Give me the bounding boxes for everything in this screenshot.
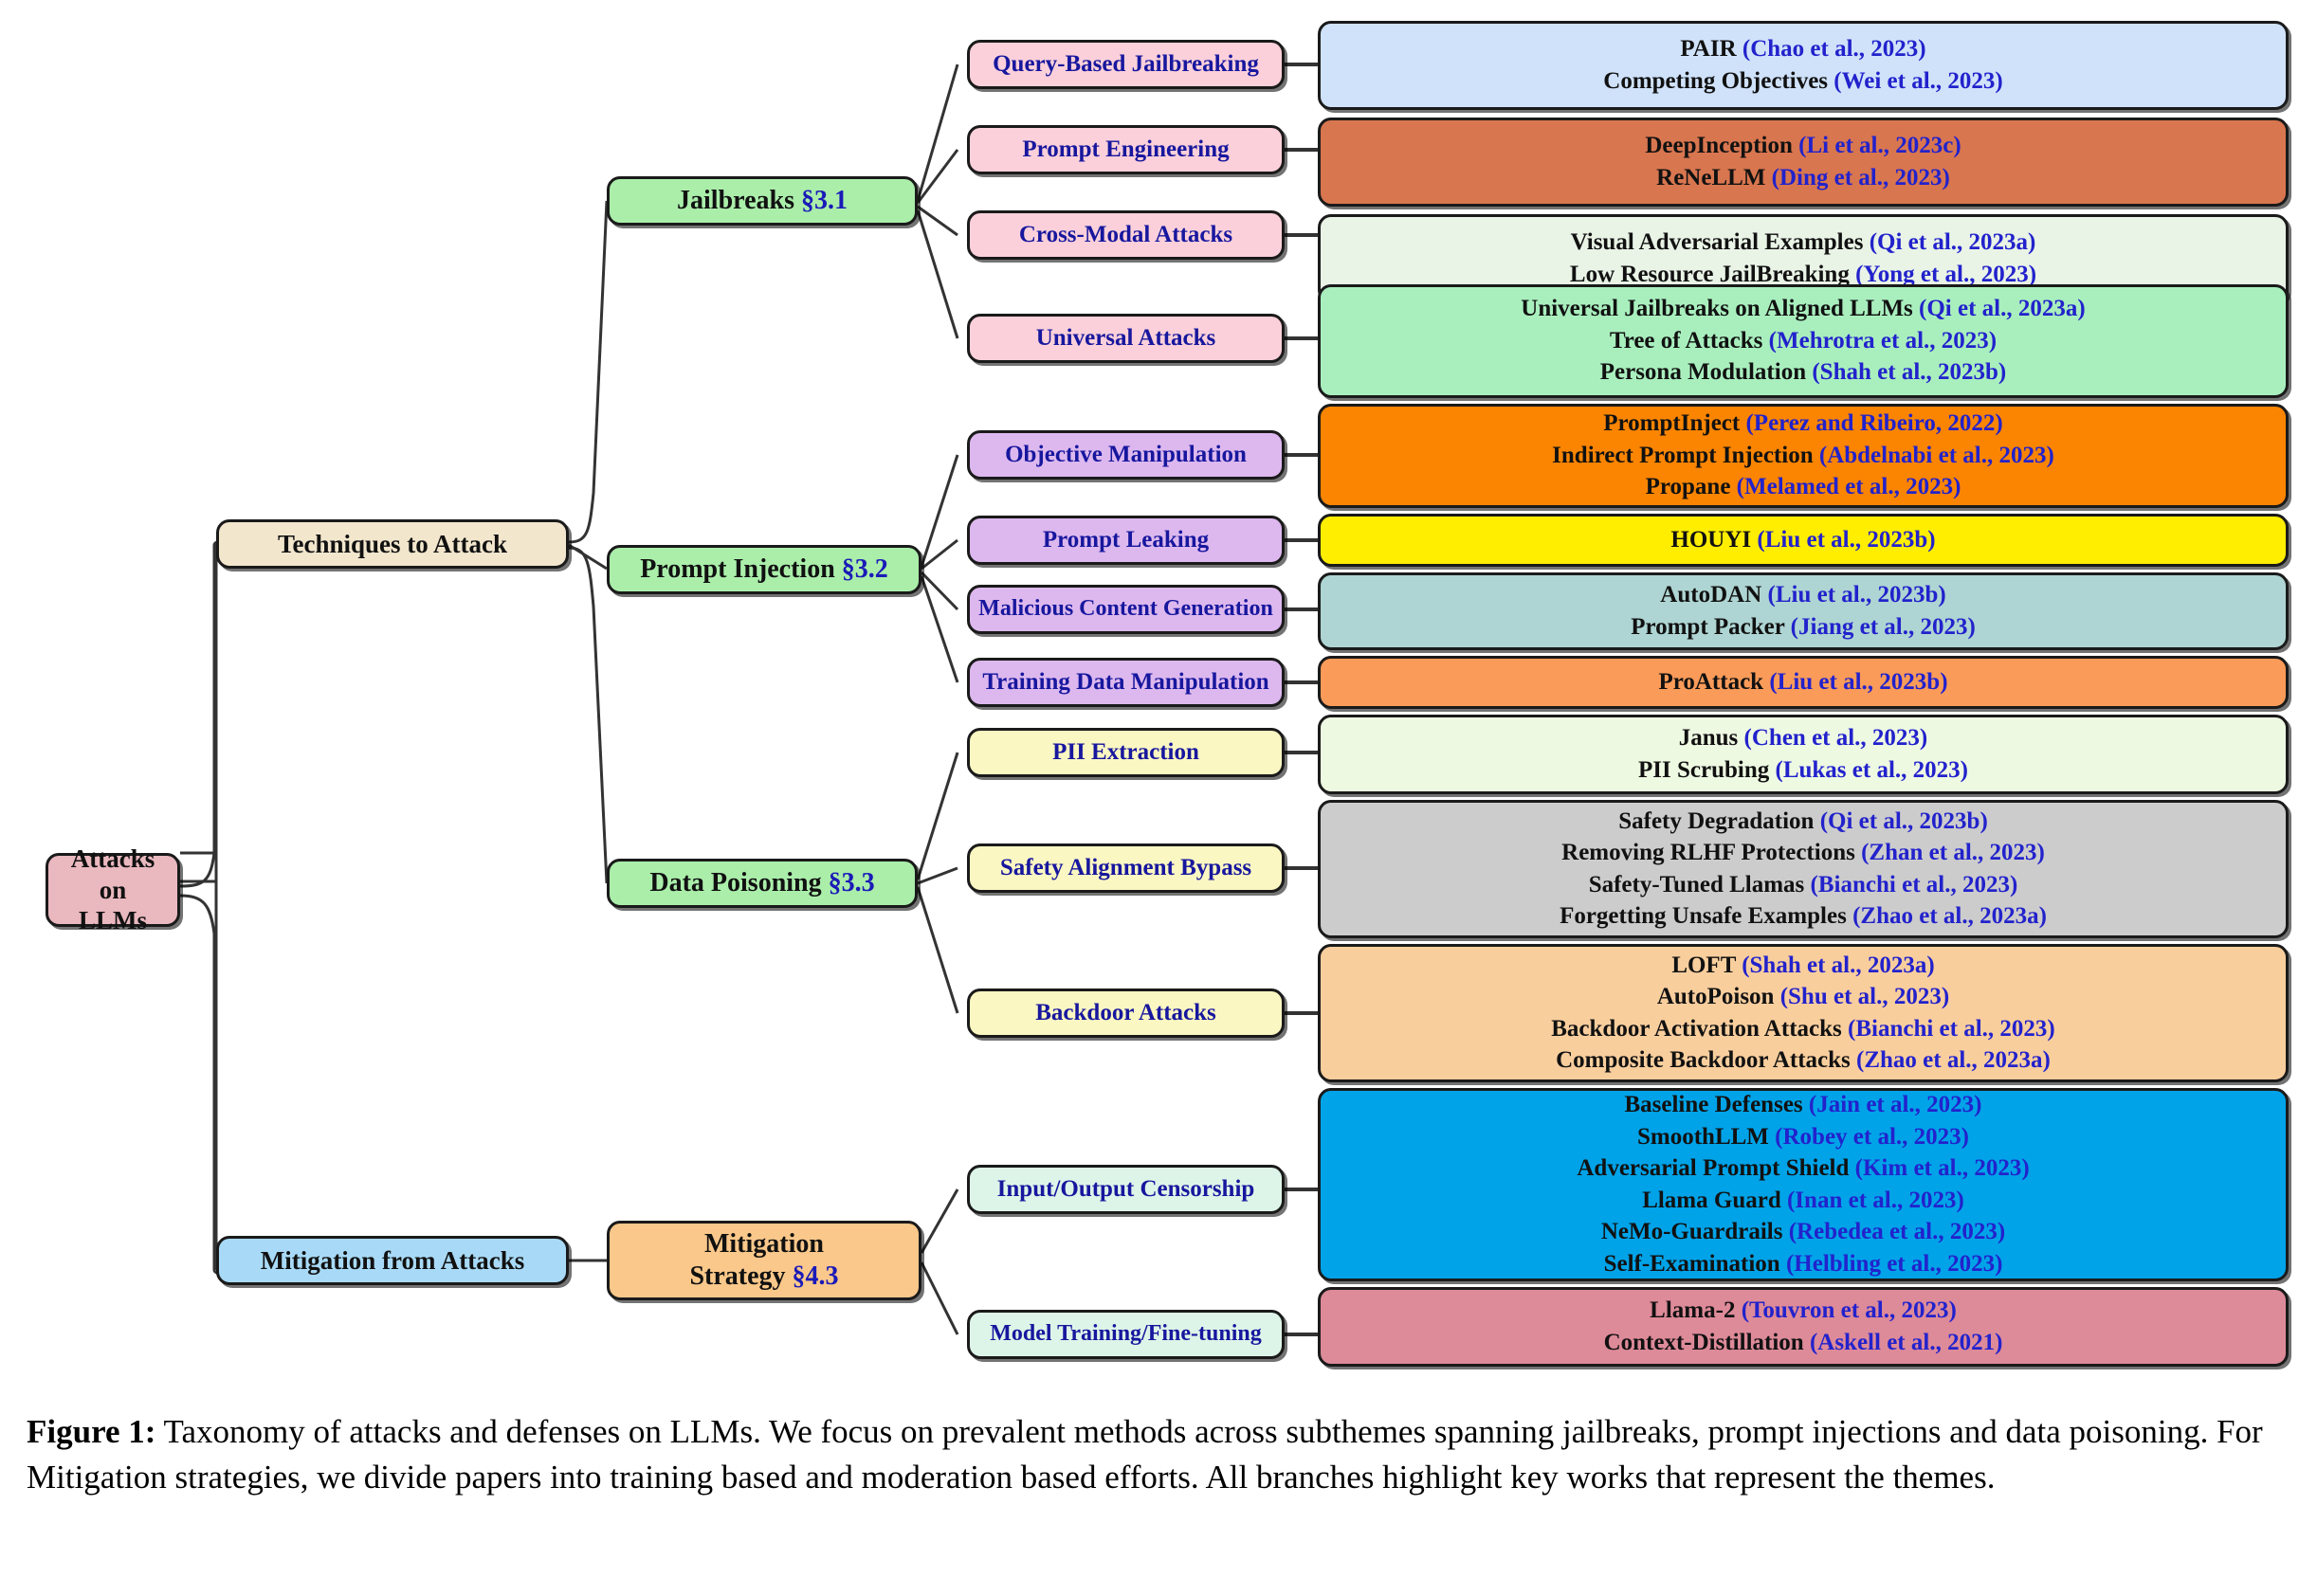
category-label-mitigation-strategy: Mitigation: [704, 1229, 824, 1259]
leaf-entry-citation: (Mehrotra et al., 2023): [1769, 328, 1997, 354]
category-label-mitigation-strategy-2: Strategy: [689, 1261, 785, 1291]
node-subtheme-malicious-content-generation[interactable]: Malicious Content Generation: [967, 585, 1285, 634]
leaf-input-output-censorship[interactable]: Baseline Defenses (Jain et al., 2023)Smo…: [1318, 1088, 2289, 1281]
leaf-prompt-leaking[interactable]: HOUYI (Liu et al., 2023b): [1318, 514, 2289, 567]
leaf-entry-citation: (Melamed et al., 2023): [1737, 474, 1961, 499]
leaf-entry-citation: (Lukas et al., 2023): [1776, 757, 1968, 783]
category-section-mitigation-strategy: §4.3: [793, 1261, 839, 1291]
leaf-entry-citation: (Ding et al., 2023): [1772, 165, 1950, 190]
leaf-model-training-fine-tuning[interactable]: Llama-2 (Touvron et al., 2023)Context-Di…: [1318, 1287, 2289, 1367]
leaf-entry-work: Visual Adversarial Examples: [1571, 229, 1870, 255]
leaf-entry-work: PII Scrubing: [1638, 757, 1775, 783]
leaf-entry-work: Forgetting Unsafe Examples: [1560, 903, 1852, 929]
leaf-entry-citation: (Qi et al., 2023a): [1919, 296, 2086, 321]
leaf-entry: LOFT (Shah et al., 2023a): [1671, 952, 1934, 981]
leaf-universal-attacks[interactable]: Universal Jailbreaks on Aligned LLMs (Qi…: [1318, 284, 2289, 398]
leaf-entry-citation: (Liu et al., 2023b): [1768, 582, 1946, 608]
leaf-entry-work: Adversarial Prompt Shield: [1577, 1155, 1854, 1181]
figure-caption-text: Taxonomy of attacks and defenses on LLMs…: [27, 1413, 2263, 1496]
leaf-entry-citation: (Rebedea et al., 2023): [1789, 1219, 2005, 1244]
subtheme-label-prompt-engineering: Prompt Engineering: [1022, 136, 1229, 165]
leaf-entry: NeMo-Guardrails (Rebedea et al., 2023): [1601, 1218, 2005, 1247]
leaf-entry-citation: (Shah et al., 2023a): [1742, 952, 1934, 978]
node-subtheme-training-data-manipulation[interactable]: Training Data Manipulation: [967, 658, 1285, 707]
leaf-entry-work: Self-Examination: [1604, 1251, 1786, 1277]
node-subtheme-pii-extraction[interactable]: PII Extraction: [967, 728, 1285, 777]
leaf-entry-citation: (Qi et al., 2023a): [1870, 229, 2036, 255]
leaf-entry-citation: (Qi et al., 2023b): [1820, 808, 1988, 834]
leaf-entry: Visual Adversarial Examples (Qi et al., …: [1571, 228, 2036, 258]
category-label-prompt-injection: Prompt Injection: [640, 554, 835, 584]
leaf-entry-citation: (Chen et al., 2023): [1744, 725, 1928, 751]
leaf-malicious-content-generation[interactable]: AutoDAN (Liu et al., 2023b)Prompt Packer…: [1318, 572, 2289, 650]
leaf-entry-citation: (Jain et al., 2023): [1809, 1092, 1982, 1117]
leaf-entry-citation: (Li et al., 2023c): [1798, 133, 1961, 158]
branch-label-techniques: Techniques to Attack: [278, 529, 507, 560]
subtheme-label-model-training-fine-tuning: Model Training/Fine-tuning: [990, 1320, 1262, 1348]
leaf-entry-citation: (Shah et al., 2023b): [1812, 359, 2006, 385]
subtheme-label-query-based-jailbreaking: Query-Based Jailbreaking: [993, 50, 1259, 80]
subtheme-label-cross-modal-attacks: Cross-Modal Attacks: [1019, 221, 1232, 250]
leaf-entry: AutoDAN (Liu et al., 2023b): [1660, 581, 1945, 610]
leaf-entry-work: Safety-Tuned Llamas: [1589, 872, 1811, 898]
leaf-entry-work: Safety Degradation: [1618, 808, 1819, 834]
node-root-attacks-on-llms[interactable]: Attacks on LLMs: [46, 853, 180, 927]
leaf-entry-work: Indirect Prompt Injection: [1552, 443, 1819, 468]
leaf-entry: Baseline Defenses (Jain et al., 2023): [1624, 1091, 1981, 1120]
category-section-data-poisoning: §3.3: [829, 868, 875, 898]
leaf-entry-work: Llama-2: [1650, 1297, 1742, 1323]
leaf-entry-citation: (Inan et al., 2023): [1787, 1188, 1964, 1213]
subtheme-label-safety-alignment-bypass: Safety Alignment Bypass: [1000, 854, 1251, 883]
leaf-entry: Tree of Attacks (Mehrotra et al., 2023): [1610, 327, 1997, 356]
leaf-safety-alignment-bypass[interactable]: Safety Degradation (Qi et al., 2023b)Rem…: [1318, 800, 2289, 938]
leaf-entry-citation: (Robey et al., 2023): [1775, 1124, 1969, 1150]
node-subtheme-backdoor-attacks[interactable]: Backdoor Attacks: [967, 988, 1285, 1038]
leaf-entry: Propane (Melamed et al., 2023): [1646, 473, 1961, 502]
leaf-entry-work: Removing RLHF Protections: [1561, 840, 1861, 865]
leaf-entry-work: AutoDAN: [1660, 582, 1767, 608]
subtheme-label-malicious-content-generation: Malicious Content Generation: [978, 595, 1273, 623]
leaf-entry: ReNeLLM (Ding et al., 2023): [1656, 164, 1950, 193]
leaf-entry-work: Competing Objectives: [1603, 68, 1834, 94]
leaf-entry-citation: (Abdelnabi et al., 2023): [1819, 443, 2054, 468]
node-subtheme-prompt-leaking[interactable]: Prompt Leaking: [967, 516, 1285, 565]
leaf-entry-work: LOFT: [1671, 952, 1742, 978]
category-label-jailbreaks: Jailbreaks: [677, 186, 794, 215]
node-category-prompt-injection[interactable]: Prompt Injection §3.2: [607, 545, 921, 594]
leaf-entry-citation: (Zhao et al., 2023a): [1856, 1047, 2051, 1073]
leaf-entry: Indirect Prompt Injection (Abdelnabi et …: [1552, 442, 2054, 471]
leaf-objective-manipulation[interactable]: PromptInject (Perez and Ribeiro, 2022)In…: [1318, 404, 2289, 508]
leaf-entry-citation: (Bianchi et al., 2023): [1848, 1016, 2055, 1042]
leaf-entry-citation: (Wei et al., 2023): [1834, 68, 2002, 94]
leaf-entry-work: AutoPoison: [1657, 984, 1780, 1009]
node-subtheme-objective-manipulation[interactable]: Objective Manipulation: [967, 430, 1285, 480]
category-label-data-poisoning: Data Poisoning: [649, 868, 821, 898]
branch-label-mitigation: Mitigation from Attacks: [261, 1245, 524, 1277]
leaf-entry-work: Baseline Defenses: [1624, 1092, 1808, 1117]
leaf-entry-citation: (Helbling et al., 2023): [1786, 1251, 2002, 1277]
leaf-entry: Competing Objectives (Wei et al., 2023): [1603, 67, 2002, 97]
node-branch-mitigation-from-attacks[interactable]: Mitigation from Attacks: [216, 1236, 569, 1285]
category-section-jailbreaks: §3.1: [801, 186, 848, 215]
leaf-entry-citation: (Zhao et al., 2023a): [1852, 903, 2047, 929]
leaf-entry: Persona Modulation (Shah et al., 2023b): [1600, 358, 2007, 388]
leaf-entry: Composite Backdoor Attacks (Zhao et al.,…: [1556, 1046, 2051, 1076]
node-subtheme-safety-alignment-bypass[interactable]: Safety Alignment Bypass: [967, 843, 1285, 893]
leaf-entry-work: NeMo-Guardrails: [1601, 1219, 1789, 1244]
leaf-entry-work: Low Resource JailBreaking: [1570, 262, 1855, 287]
leaf-entry-work: Propane: [1646, 474, 1737, 499]
subtheme-label-prompt-leaking: Prompt Leaking: [1043, 526, 1209, 555]
leaf-entry: Safety Degradation (Qi et al., 2023b): [1618, 807, 1988, 837]
leaf-training-data-manipulation[interactable]: ProAttack (Liu et al., 2023b): [1318, 656, 2289, 709]
leaf-entry-work: PromptInject: [1603, 410, 1745, 436]
leaf-entry-work: Context-Distillation: [1604, 1330, 1810, 1355]
leaf-entry-citation: (Perez and Ribeiro, 2022): [1745, 410, 2002, 436]
subtheme-label-pii-extraction: PII Extraction: [1052, 738, 1199, 768]
leaf-entry-citation: (Jiang et al., 2023): [1791, 614, 1976, 640]
leaf-entry-citation: (Shu et al., 2023): [1780, 984, 1949, 1009]
leaf-entry-citation: (Chao et al., 2023): [1742, 36, 1926, 62]
node-subtheme-prompt-engineering[interactable]: Prompt Engineering: [967, 125, 1285, 174]
leaf-entry-citation: (Kim et al., 2023): [1855, 1155, 2030, 1181]
leaf-entry: PII Scrubing (Lukas et al., 2023): [1638, 756, 1968, 786]
node-subtheme-model-training-fine-tuning[interactable]: Model Training/Fine-tuning: [967, 1310, 1285, 1359]
node-category-mitigation-strategy[interactable]: Mitigation Strategy §4.3: [607, 1221, 921, 1300]
leaf-entry: Janus (Chen et al., 2023): [1679, 724, 1928, 753]
taxonomy-figure: Attacks on LLMs Techniques to Attack Mit…: [0, 0, 2317, 1384]
root-label-line1: Attacks on: [71, 844, 155, 904]
leaf-entry-work: Prompt Packer: [1631, 614, 1790, 640]
leaf-entry: Universal Jailbreaks on Aligned LLMs (Qi…: [1521, 295, 2085, 324]
leaf-entry-citation: (Touvron et al., 2023): [1742, 1297, 1957, 1323]
leaf-entry-work: ProAttack: [1658, 669, 1769, 695]
leaf-pii-extraction[interactable]: Janus (Chen et al., 2023)PII Scrubing (L…: [1318, 715, 2289, 794]
leaf-prompt-engineering[interactable]: DeepInception (Li et al., 2023c)ReNeLLM …: [1318, 118, 2289, 207]
leaf-entry: SmoothLLM (Robey et al., 2023): [1637, 1123, 1969, 1152]
node-category-jailbreaks[interactable]: Jailbreaks §3.1: [607, 176, 918, 226]
leaf-entry-citation: (Liu et al., 2023b): [1757, 527, 1935, 553]
leaf-entry-work: Tree of Attacks: [1610, 328, 1769, 354]
leaf-entry-work: Llama Guard: [1642, 1188, 1787, 1213]
subtheme-label-universal-attacks: Universal Attacks: [1036, 324, 1216, 354]
leaf-entry: DeepInception (Li et al., 2023c): [1645, 132, 1961, 161]
subtheme-label-input-output-censorship: Input/Output Censorship: [997, 1175, 1255, 1205]
leaf-entry: Safety-Tuned Llamas (Bianchi et al., 202…: [1589, 871, 2018, 900]
leaf-entry: Context-Distillation (Askell et al., 202…: [1604, 1329, 2003, 1358]
figure-caption: Figure 1: Taxonomy of attacks and defens…: [27, 1409, 2294, 1501]
node-subtheme-universal-attacks[interactable]: Universal Attacks: [967, 314, 1285, 363]
leaf-entry-citation: (Liu et al., 2023b): [1769, 669, 1947, 695]
leaf-entry: Self-Examination (Helbling et al., 2023): [1604, 1250, 2003, 1279]
leaf-entry-work: Universal Jailbreaks on Aligned LLMs: [1521, 296, 1919, 321]
leaf-entry: AutoPoison (Shu et al., 2023): [1657, 983, 1949, 1012]
leaf-entry-work: HOUYI: [1670, 527, 1757, 553]
leaf-query-based-jailbreaking[interactable]: PAIR (Chao et al., 2023)Competing Object…: [1318, 21, 2289, 110]
node-category-data-poisoning[interactable]: Data Poisoning §3.3: [607, 859, 918, 908]
leaf-entry-work: ReNeLLM: [1656, 165, 1772, 190]
leaf-entry-work: Backdoor Activation Attacks: [1551, 1016, 1848, 1042]
node-subtheme-query-based-jailbreaking[interactable]: Query-Based Jailbreaking: [967, 40, 1285, 89]
node-subtheme-input-output-censorship[interactable]: Input/Output Censorship: [967, 1165, 1285, 1214]
leaf-entry-citation: (Bianchi et al., 2023): [1811, 872, 2018, 898]
leaf-entry: Llama-2 (Touvron et al., 2023): [1650, 1297, 1957, 1326]
leaf-entry: ProAttack (Liu et al., 2023b): [1658, 668, 1947, 698]
leaf-entry-citation: (Askell et al., 2021): [1810, 1330, 2002, 1355]
leaf-entry-work: SmoothLLM: [1637, 1124, 1775, 1150]
leaf-entry: Removing RLHF Protections (Zhan et al., …: [1561, 839, 2045, 868]
figure-caption-label: Figure 1:: [27, 1413, 155, 1450]
leaf-entry: Llama Guard (Inan et al., 2023): [1642, 1187, 1964, 1216]
subtheme-label-objective-manipulation: Objective Manipulation: [1005, 441, 1247, 470]
leaf-entry-work: DeepInception: [1645, 133, 1798, 158]
subtheme-label-training-data-manipulation: Training Data Manipulation: [982, 668, 1268, 698]
leaf-entry-work: Persona Modulation: [1600, 359, 1813, 385]
leaf-entry-work: PAIR: [1680, 36, 1742, 62]
leaf-entry-work: Composite Backdoor Attacks: [1556, 1047, 1856, 1073]
node-subtheme-cross-modal-attacks[interactable]: Cross-Modal Attacks: [967, 210, 1285, 260]
leaf-entry-citation: (Yong et al., 2023): [1855, 262, 2036, 287]
leaf-entry: Backdoor Activation Attacks (Bianchi et …: [1551, 1015, 2055, 1044]
leaf-entry: Adversarial Prompt Shield (Kim et al., 2…: [1577, 1154, 2029, 1184]
root-label-line2: LLMs: [79, 906, 147, 934]
leaf-entry: Forgetting Unsafe Examples (Zhao et al.,…: [1560, 902, 2047, 932]
leaf-entry: PAIR (Chao et al., 2023): [1680, 35, 1925, 64]
subtheme-label-backdoor-attacks: Backdoor Attacks: [1035, 999, 1216, 1028]
leaf-entry-citation: (Zhan et al., 2023): [1861, 840, 2045, 865]
leaf-entry: PromptInject (Perez and Ribeiro, 2022): [1603, 409, 2002, 439]
leaf-entry: HOUYI (Liu et al., 2023b): [1670, 526, 1935, 555]
node-branch-techniques-to-attack[interactable]: Techniques to Attack: [216, 519, 569, 569]
category-section-prompt-injection: §3.2: [842, 554, 888, 584]
leaf-entry-work: Janus: [1679, 725, 1744, 751]
leaf-backdoor-attacks[interactable]: LOFT (Shah et al., 2023a)AutoPoison (Shu…: [1318, 944, 2289, 1082]
leaf-entry: Prompt Packer (Jiang et al., 2023): [1631, 613, 1976, 643]
